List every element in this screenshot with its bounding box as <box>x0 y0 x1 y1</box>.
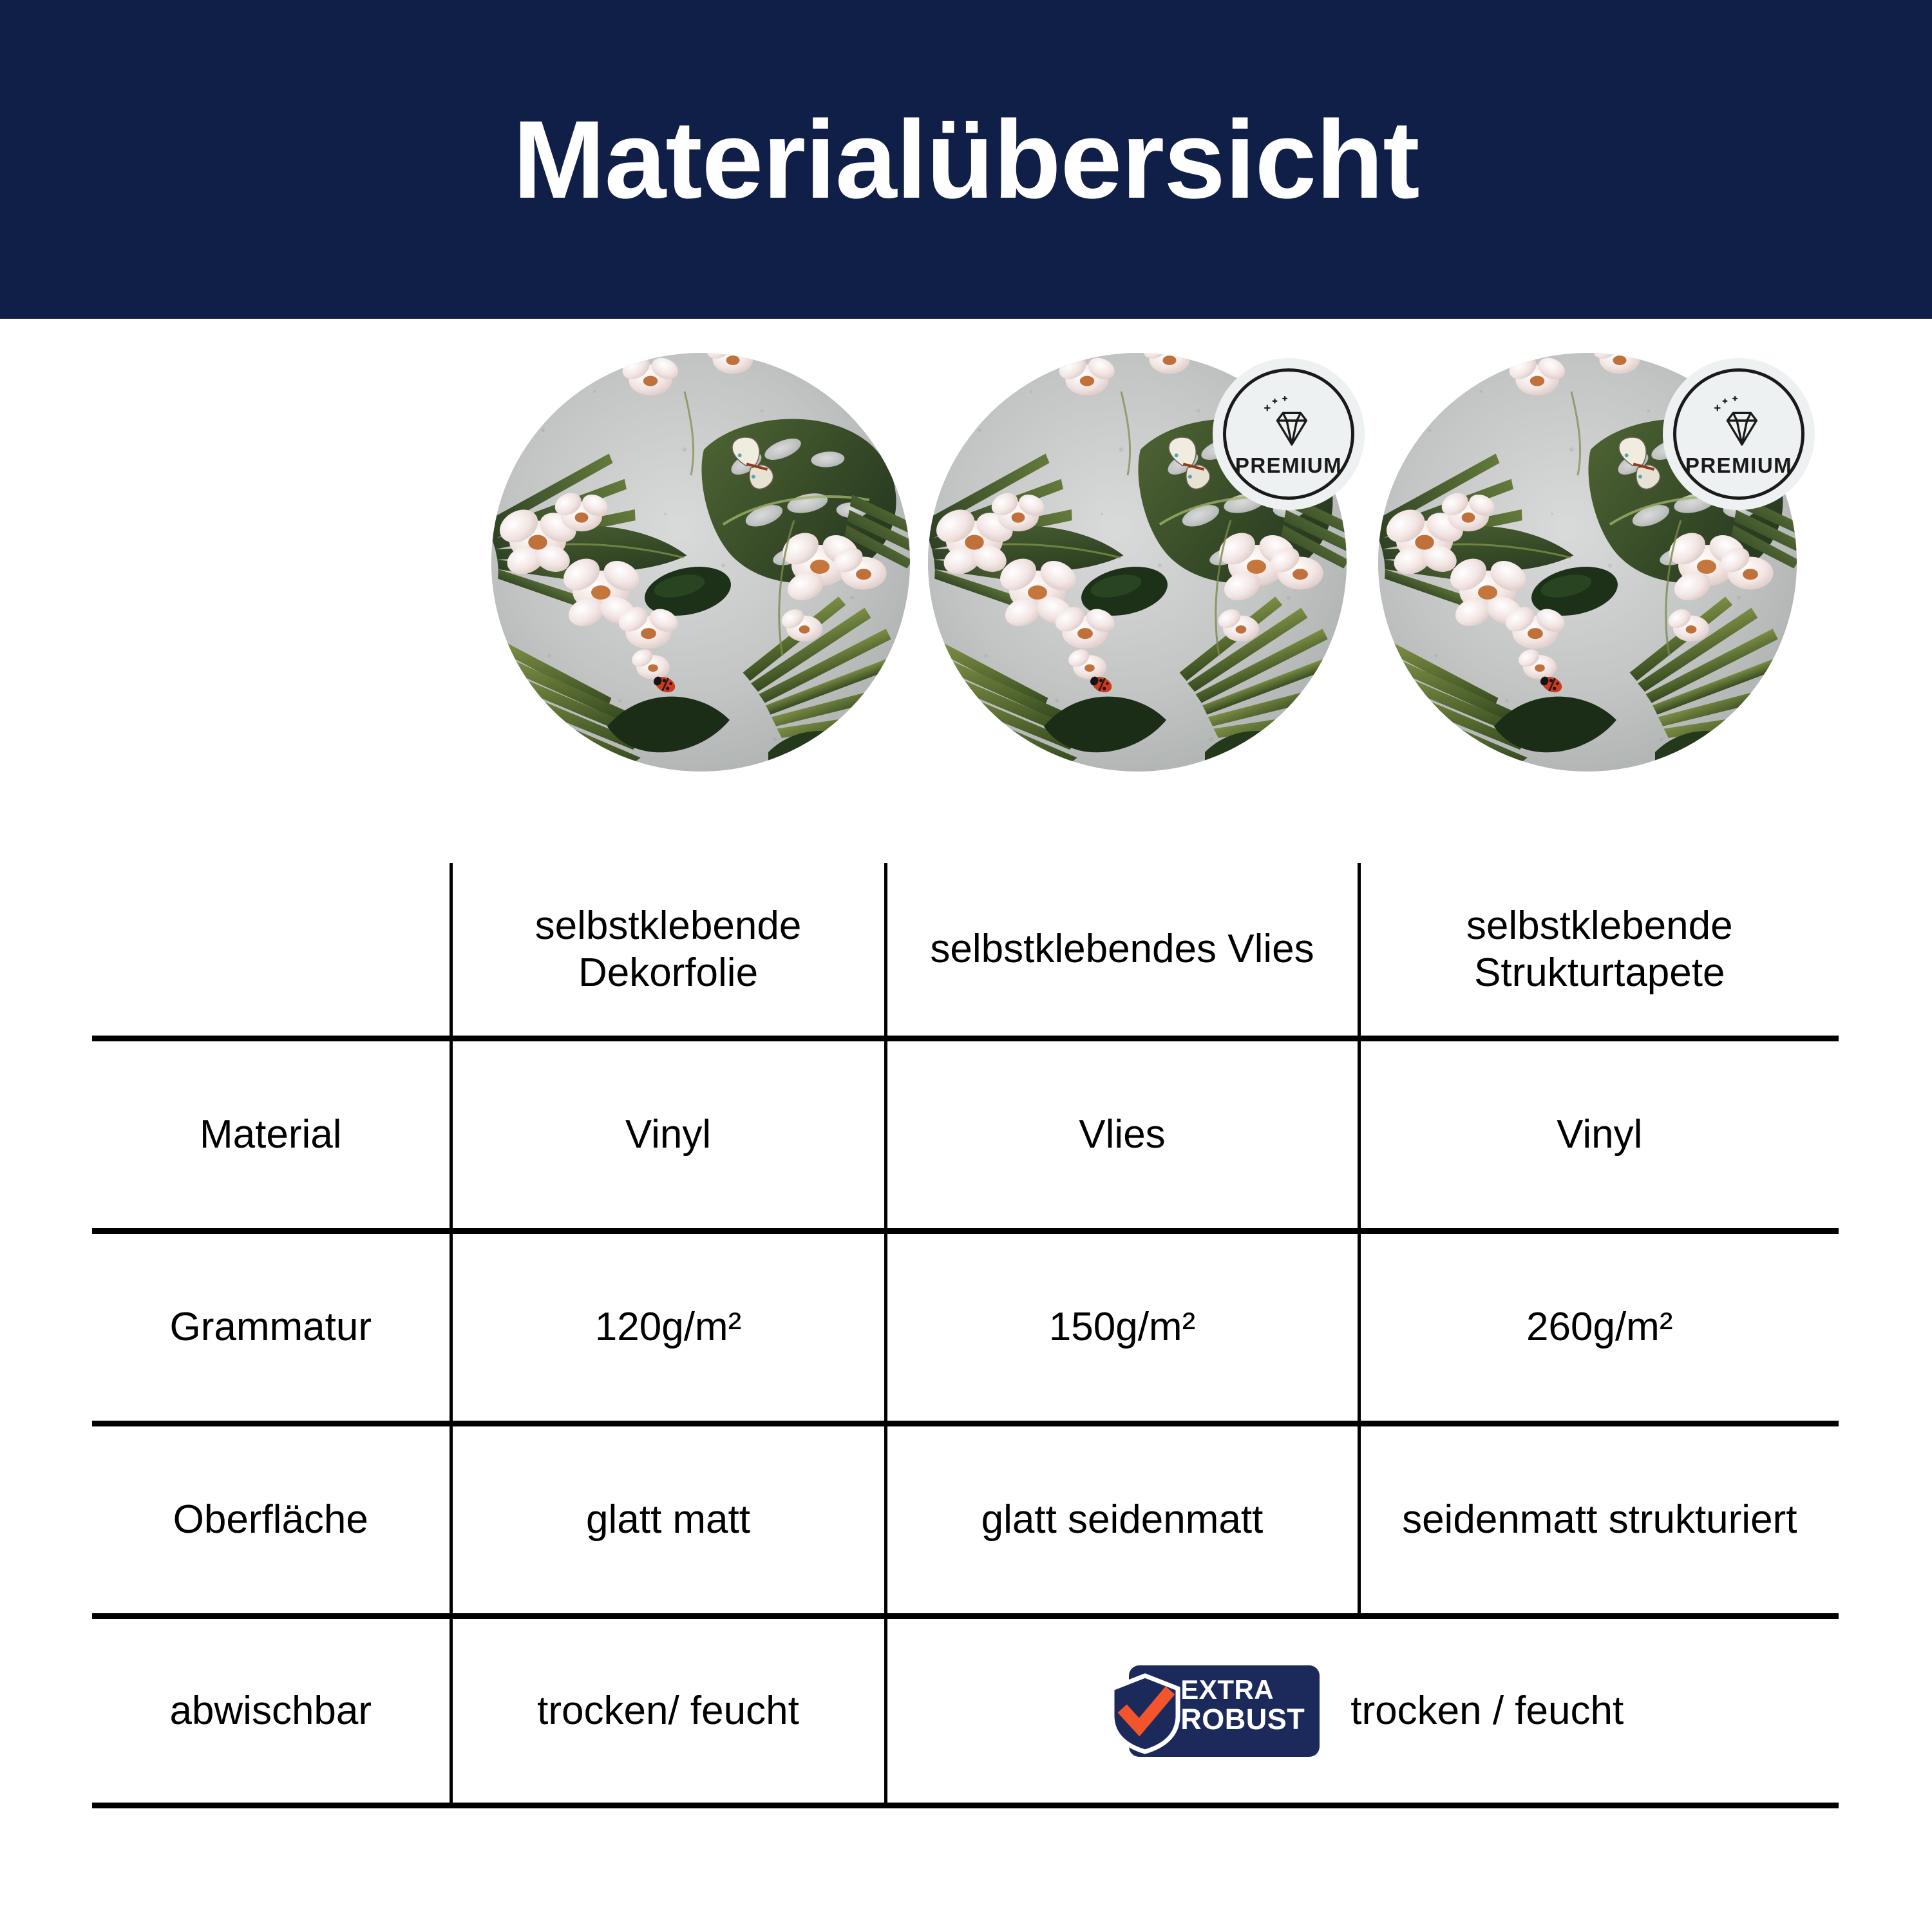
premium-badge-strukturtapete: PREMIUM <box>1663 358 1815 510</box>
row-label-oberflaeche: Oberfläche <box>92 1424 451 1616</box>
material-spec-table: selbstklebende Dekorfolie selbstklebende… <box>92 863 1839 1808</box>
row-label-material: Material <box>92 1039 451 1231</box>
premium-badge-vlies: PREMIUM <box>1213 358 1365 510</box>
cell-abwischbar-dekorfolie: trocken/ feucht <box>451 1616 885 1806</box>
swatch-vlies[interactable]: PREMIUM <box>928 353 1347 772</box>
swatch-dekorfolie[interactable] <box>491 353 910 772</box>
cell-material-vlies: Vlies <box>885 1039 1359 1231</box>
cell-abwischbar-merged-text: trocken / feucht <box>1350 1687 1624 1734</box>
row-label-abwischbar: abwischbar <box>92 1616 451 1806</box>
swatch-strukturtapete[interactable]: PREMIUM <box>1378 353 1797 772</box>
cell-material-dekorfolie: Vinyl <box>451 1039 885 1231</box>
cell-grammatur-vlies: 150g/m² <box>885 1231 1359 1424</box>
material-preview-image-1 <box>491 353 910 772</box>
cell-abwischbar-merged: EXTRA ROBUST trocken / feucht <box>885 1616 1839 1806</box>
table-row-grammatur: Grammatur 120g/m² 150g/m² 260g/m² <box>92 1231 1839 1424</box>
column-header-strukturtapete: selbstklebende Strukturtapete <box>1359 863 1839 1039</box>
extra-robust-badge: EXTRA ROBUST <box>1102 1665 1320 1757</box>
row-label-grammatur: Grammatur <box>92 1231 451 1424</box>
table-header-row: selbstklebende Dekorfolie selbstklebende… <box>92 863 1839 1039</box>
cell-oberflaeche-dekorfolie: glatt matt <box>451 1424 885 1616</box>
page-header: Materialübersicht <box>0 0 1932 319</box>
material-swatch-row: PREMIUM PREMIUM <box>0 353 1932 791</box>
column-header-dekorfolie: selbstklebende Dekorfolie <box>451 863 885 1039</box>
column-header-vlies: selbstklebendes Vlies <box>885 863 1359 1039</box>
premium-badge-label: PREMIUM <box>1235 453 1342 478</box>
tropical-pattern-graphic <box>491 353 910 772</box>
cell-grammatur-strukturtapete: 260g/m² <box>1359 1231 1839 1424</box>
cell-material-strukturtapete: Vinyl <box>1359 1039 1839 1231</box>
cell-oberflaeche-strukturtapete: seidenmatt strukturiert <box>1359 1424 1839 1616</box>
extra-robust-line1: EXTRA <box>1180 1676 1313 1704</box>
cell-oberflaeche-vlies: glatt seidenmatt <box>885 1424 1359 1616</box>
table-row-material: Material Vinyl Vlies Vinyl <box>92 1039 1839 1231</box>
diamond-icon <box>1711 394 1766 450</box>
page-title: Materialübersicht <box>513 104 1419 215</box>
diamond-icon <box>1261 394 1316 450</box>
table-corner-cell <box>92 863 451 1039</box>
shield-check-icon <box>1107 1672 1183 1754</box>
cell-grammatur-dekorfolie: 120g/m² <box>451 1231 885 1424</box>
table-row-abwischbar: abwischbar trocken/ feucht EXTRA ROBUST <box>92 1616 1839 1806</box>
premium-badge-label: PREMIUM <box>1685 453 1792 478</box>
extra-robust-line2: ROBUST <box>1180 1704 1313 1734</box>
table-row-oberflaeche: Oberfläche glatt matt glatt seidenmatt s… <box>92 1424 1839 1616</box>
